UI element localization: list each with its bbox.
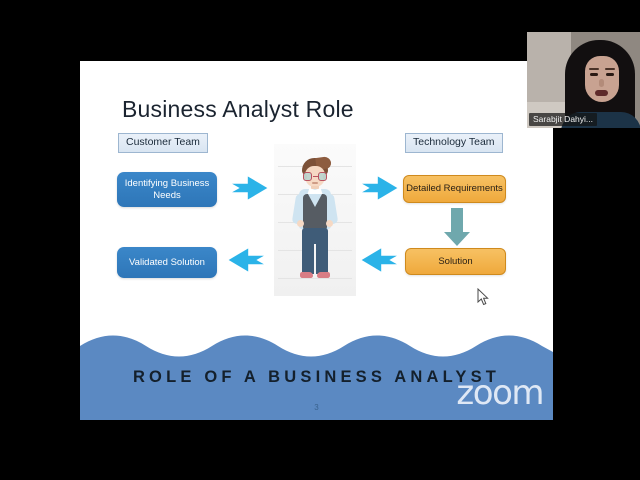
box-validated-solution: Validated Solution xyxy=(117,247,217,278)
arrow-left-icon xyxy=(358,243,402,277)
box-detailed-requirements: Detailed Requirements xyxy=(403,175,506,203)
participant-eyebrow xyxy=(589,68,599,70)
arrow-right-icon xyxy=(227,171,271,205)
participant-video-tile[interactable]: Sarabjit Dahyi... xyxy=(527,32,640,128)
participant-nose xyxy=(599,79,604,87)
screen-root: Business Analyst Role Customer Team Tech… xyxy=(0,0,640,480)
presentation-slide: Business Analyst Role Customer Team Tech… xyxy=(80,61,553,420)
zoom-watermark-logo: zoom xyxy=(456,376,543,410)
participant-mouth xyxy=(595,90,608,96)
arrow-down-icon xyxy=(442,206,472,248)
center-figure-panel xyxy=(274,144,356,296)
label-technology-team: Technology Team xyxy=(405,133,503,153)
arrow-left-icon xyxy=(225,243,269,277)
label-customer-team: Customer Team xyxy=(118,133,208,153)
slide-footer-banner: ROLE OF A BUSINESS ANALYST 3 zoom xyxy=(80,328,553,420)
box-solution: Solution xyxy=(405,248,506,275)
participant-eyebrow xyxy=(605,68,615,70)
participant-eye xyxy=(590,73,598,76)
arrow-right-icon xyxy=(357,171,401,205)
glasses-icon xyxy=(303,172,327,181)
business-analyst-person-icon xyxy=(274,144,356,296)
box-identifying-business-needs: Identifying Business Needs xyxy=(117,172,217,207)
participant-name-label: Sarabjit Dahyi... xyxy=(529,113,597,126)
participant-eye xyxy=(606,73,614,76)
page-title: Business Analyst Role xyxy=(122,96,354,123)
